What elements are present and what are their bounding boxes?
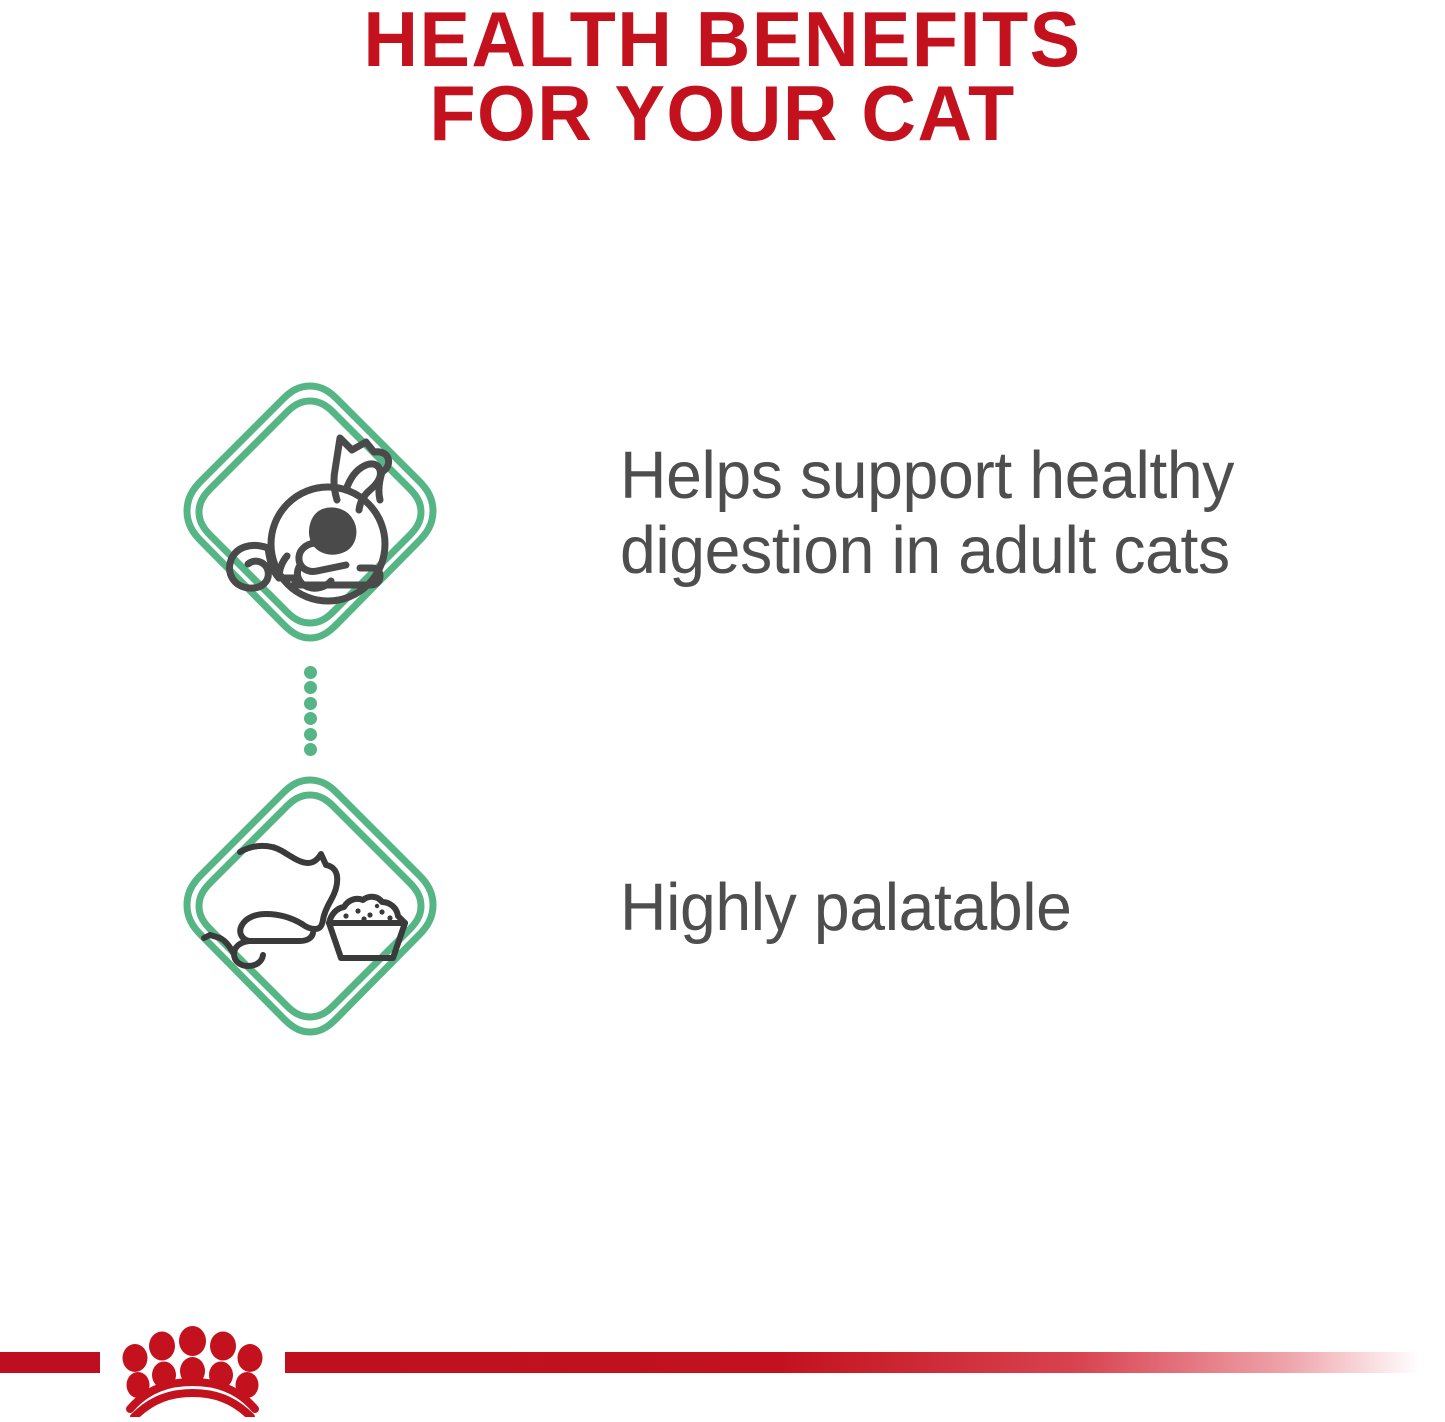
connector-dot — [304, 666, 317, 679]
benefit-label-palatable: Highly palatable — [620, 870, 1412, 945]
benefit-item-digestion: Helps support healthy digestion in adult… — [0, 372, 1445, 654]
dotted-connector — [0, 654, 620, 766]
page-title-line-1: HEALTH BENEFITS — [22, 2, 1424, 76]
crown-icon — [100, 1325, 285, 1417]
connector-dot — [304, 728, 317, 741]
benefit-label-digestion: Helps support healthy digestion in adult… — [620, 438, 1412, 588]
footer — [0, 1325, 1445, 1417]
connector-dot — [304, 712, 317, 725]
connector-dot — [304, 697, 317, 710]
royal-canin-crown-logo — [100, 1325, 285, 1417]
connector-dot — [304, 681, 317, 694]
page-title-line-2: FOR YOUR CAT — [22, 76, 1424, 150]
connector-dot — [304, 743, 317, 756]
health-benefits-list: Helps support healthy digestion in adult… — [0, 372, 1445, 1048]
benefit-icon-wrapper — [0, 372, 620, 654]
cat-digestion-icon — [174, 372, 446, 654]
page-title: HEALTH BENEFITS FOR YOUR CAT — [0, 0, 1445, 150]
benefit-item-palatable: Highly palatable — [0, 766, 1445, 1048]
benefit-icon-wrapper — [0, 766, 620, 1048]
cat-eating-bowl-icon — [174, 766, 446, 1048]
